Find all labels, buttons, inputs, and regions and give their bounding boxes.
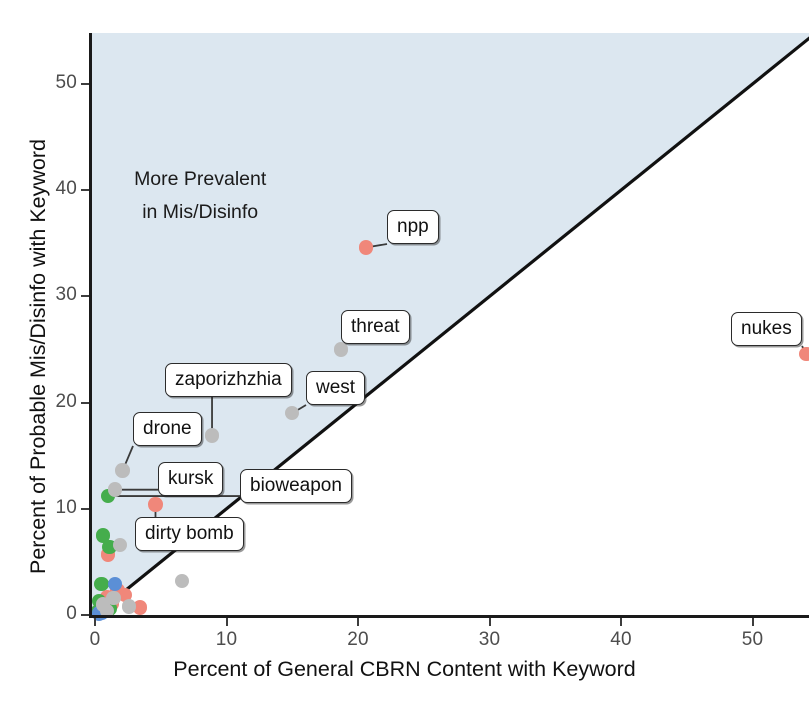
x-tick-mark <box>357 618 359 626</box>
x-tick-mark <box>489 618 491 626</box>
data-point <box>334 342 348 356</box>
x-tick-label: 40 <box>581 629 661 651</box>
keyword-label-zaporizhzhia: zaporizhzhia <box>165 363 292 397</box>
x-tick-mark <box>620 618 622 626</box>
y-axis-title: Percent of Probable Mis/Disinfo with Key… <box>26 139 51 574</box>
x-tick-mark <box>752 618 754 626</box>
keyword-label-threat: threat <box>341 310 410 344</box>
y-tick-label: 0 <box>0 603 77 625</box>
data-point <box>108 482 122 496</box>
more-prevalent-annotation-line2: in Mis/Disinfo <box>50 201 350 224</box>
keyword-label-nukes: nukes <box>731 312 802 346</box>
more-prevalent-annotation-line1: More Prevalent <box>50 168 350 191</box>
scatter-plot: More Prevalent in Mis/Disinfo nppnukesth… <box>0 0 809 716</box>
y-tick-mark <box>81 402 89 404</box>
data-point <box>94 577 108 591</box>
y-tick-mark <box>81 189 89 191</box>
x-tick-label: 10 <box>187 629 267 651</box>
keyword-label-drone: drone <box>133 412 202 446</box>
x-tick-mark <box>226 618 228 626</box>
data-point <box>799 347 809 361</box>
y-tick-mark <box>81 295 89 297</box>
data-point <box>148 497 162 511</box>
keyword-label-bioweapon: bioweapon <box>240 469 352 503</box>
data-point <box>175 574 189 588</box>
x-tick-label: 0 <box>55 629 135 651</box>
x-tick-mark <box>94 618 96 626</box>
keyword-label-west: west <box>306 371 365 405</box>
y-axis-line <box>89 33 92 618</box>
data-point <box>205 428 219 442</box>
keyword-label-npp: npp <box>387 210 439 244</box>
x-tick-label: 50 <box>713 629 793 651</box>
y-tick-label: 50 <box>0 72 77 94</box>
x-axis-title: Percent of General CBRN Content with Key… <box>0 657 809 682</box>
x-tick-label: 30 <box>450 629 530 651</box>
data-point <box>122 599 136 613</box>
y-tick-mark <box>81 83 89 85</box>
y-tick-mark <box>81 508 89 510</box>
data-point <box>115 463 129 477</box>
y-tick-mark <box>81 614 89 616</box>
x-axis-line <box>89 615 809 618</box>
x-tick-label: 20 <box>318 629 398 651</box>
keyword-label-dirty-bomb: dirty bomb <box>135 517 244 551</box>
data-point <box>359 240 373 254</box>
keyword-label-kursk: kursk <box>158 462 223 496</box>
